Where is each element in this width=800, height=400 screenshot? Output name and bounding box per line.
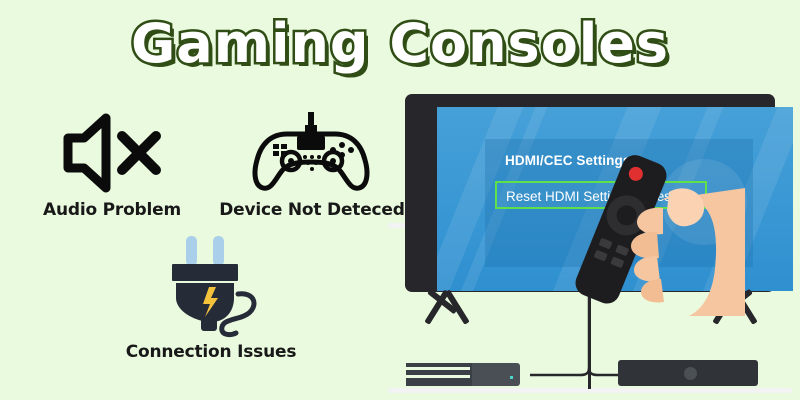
hand-holding-remote (565, 148, 745, 333)
feature-label: Connection Issues (96, 342, 326, 362)
feature-connection-issues: Connection Issues (96, 232, 326, 362)
game-console-right (618, 360, 758, 386)
feature-audio-problem: Audio Problem (12, 112, 212, 220)
remote-and-hand-illustration (565, 148, 745, 328)
gamepad-icon (241, 112, 383, 192)
game-console-left (406, 360, 520, 386)
speaker-mute-icon (60, 112, 164, 194)
page-title: Gaming Consoles (0, 16, 800, 73)
console-lens (684, 367, 697, 380)
finger (641, 279, 664, 302)
power-plug-icon (146, 232, 276, 338)
console-body-front (472, 363, 520, 386)
infographic-canvas: Gaming Consoles Audio Problem (0, 0, 800, 400)
console-slot (406, 367, 470, 370)
console-led (510, 376, 513, 379)
feature-label: Audio Problem (12, 200, 212, 220)
tv-scene: HDMI/CEC Settings Reset HDMI Settings Re… (380, 88, 800, 400)
thumb (667, 188, 704, 226)
finger (634, 256, 660, 281)
console-slot (406, 375, 470, 378)
